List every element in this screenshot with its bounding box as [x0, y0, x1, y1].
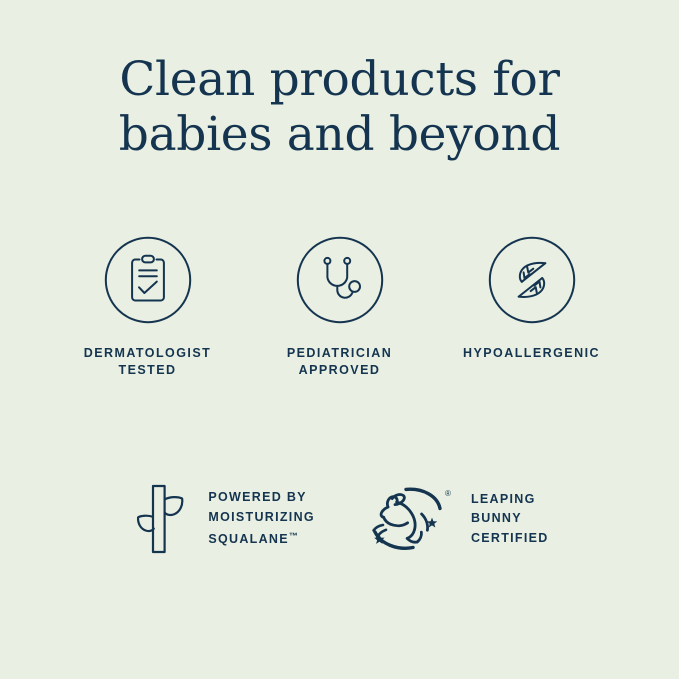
- badge-leaping-bunny-certified: ® LEAPING BUNNY CERTIFIED: [357, 484, 549, 554]
- badge-label: DERMATOLOGIST TESTED: [84, 345, 211, 379]
- badge-label: HYPOALLERGENIC: [463, 345, 600, 362]
- trademark-symbol: ™: [289, 531, 298, 541]
- promo-panel: Clean products for babies and beyond DER…: [0, 0, 679, 679]
- badge-label: LEAPING BUNNY CERTIFIED: [471, 490, 549, 549]
- page-title: Clean products for babies and beyond: [0, 52, 679, 162]
- badge-powered-by-squalane: POWERED BYMOISTURIZINGSQUALANE™: [130, 483, 315, 555]
- clipboard-check-icon: [104, 236, 192, 324]
- badge-label-line-1: POWERED BY: [208, 490, 306, 504]
- badge-pediatrician-approved: PEDIATRICIAN APPROVED: [244, 236, 436, 379]
- badge-hypoallergenic: HYPOALLERGENIC: [436, 236, 628, 362]
- badge-row-primary: DERMATOLOGIST TESTED PEDIATRICIAN APPROV…: [0, 236, 679, 379]
- badge-dermatologist-tested: DERMATOLOGIST TESTED: [52, 236, 244, 379]
- page-title-line-2: babies and beyond: [0, 107, 679, 162]
- page-title-line-1: Clean products for: [0, 52, 679, 107]
- badge-label: PEDIATRICIAN APPROVED: [287, 345, 392, 379]
- badge-label-line-3: SQUALANE: [208, 532, 289, 546]
- badge-row-secondary: POWERED BYMOISTURIZINGSQUALANE™: [0, 483, 679, 555]
- registered-mark: ®: [445, 489, 451, 498]
- sugarcane-leaf-icon: [130, 483, 192, 555]
- badge-label-line-2: MOISTURIZING: [208, 510, 315, 524]
- badge-label: POWERED BYMOISTURIZINGSQUALANE™: [208, 488, 315, 550]
- leaping-bunny-icon: ®: [357, 484, 457, 554]
- feathers-icon: [488, 236, 576, 324]
- stethoscope-icon: [296, 236, 384, 324]
